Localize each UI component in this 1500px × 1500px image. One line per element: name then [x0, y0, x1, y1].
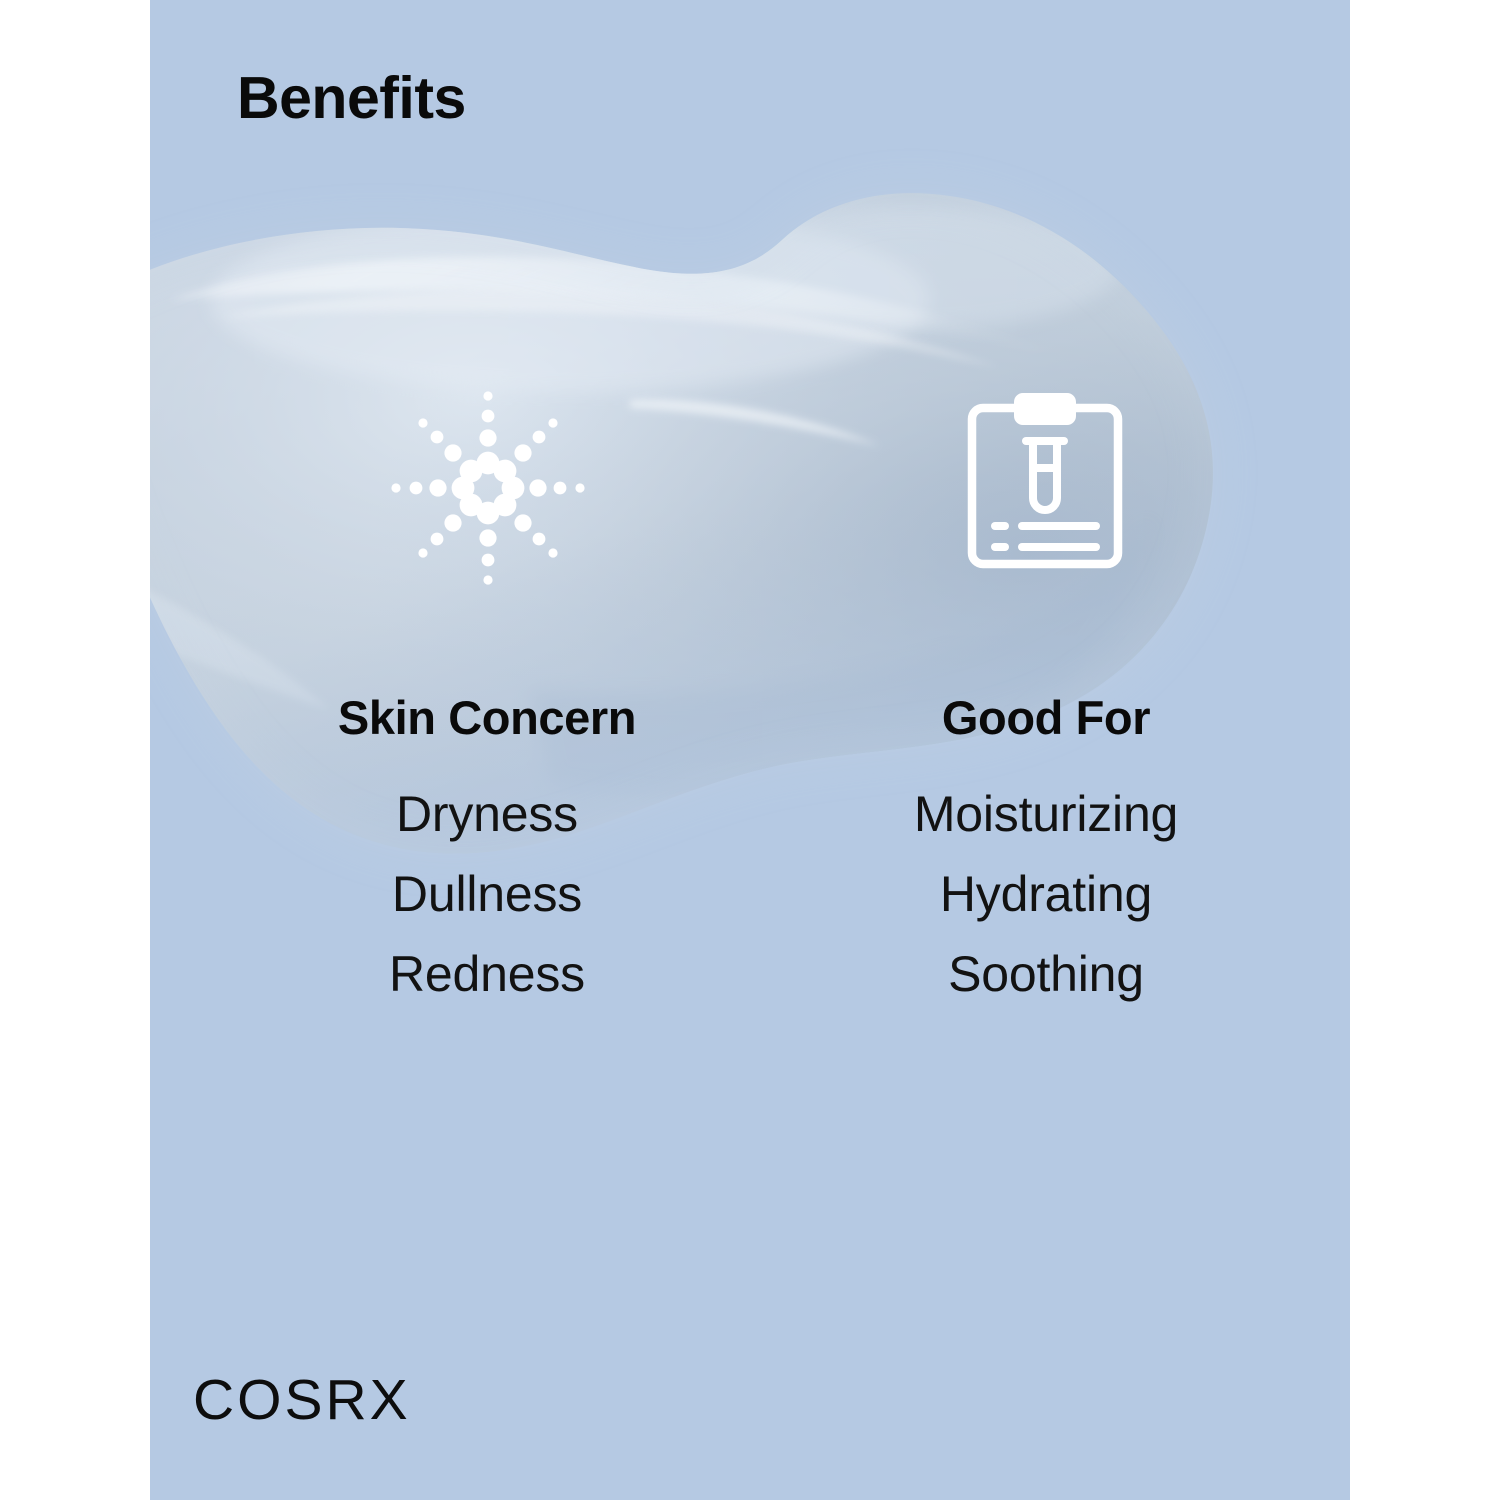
column-skin-concern: Skin Concern Dryness Dullness Redness: [267, 690, 707, 1014]
list-item: Dryness: [267, 774, 707, 854]
list-item: Hydrating: [826, 854, 1266, 934]
list-item: Redness: [267, 934, 707, 1014]
brand-logo-cosrx: COSRX: [193, 1372, 411, 1429]
clipboard-test-tube-icon: [950, 390, 1140, 580]
column-heading-good-for: Good For: [826, 690, 1266, 746]
skin-concern-list: Dryness Dullness Redness: [267, 774, 707, 1014]
radiance-burst-icon: [388, 388, 588, 588]
infographic-canvas: Benefits: [0, 0, 1500, 1500]
good-for-list: Moisturizing Hydrating Soothing: [826, 774, 1266, 1014]
benefits-panel: Benefits: [150, 0, 1350, 1500]
column-heading-skin-concern: Skin Concern: [267, 690, 707, 746]
column-good-for: Good For Moisturizing Hydrating Soothing: [826, 690, 1266, 1014]
page-title: Benefits: [237, 68, 466, 130]
list-item: Dullness: [267, 854, 707, 934]
list-item: Moisturizing: [826, 774, 1266, 854]
list-item: Soothing: [826, 934, 1266, 1014]
